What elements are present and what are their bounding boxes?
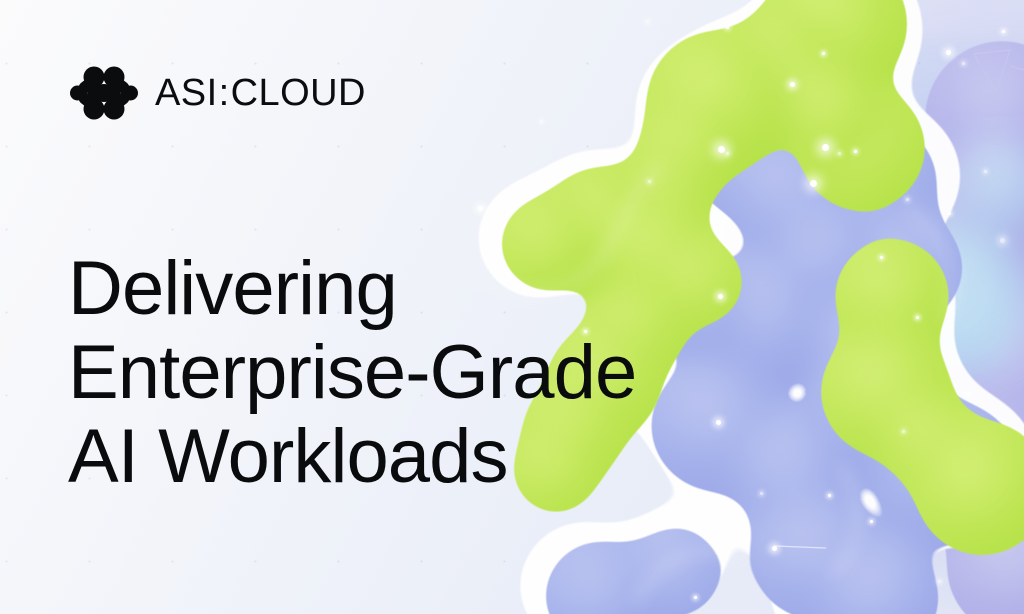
hero-banner: ASI:CLOUD Delivering Enterprise-Grade AI… [0, 0, 1024, 614]
brand-name-primary: ASI [155, 72, 218, 114]
brand-wordmark: ASI:CLOUD [155, 74, 366, 112]
headline-line-1: Delivering [68, 247, 636, 331]
headline-line-3: AI Workloads [68, 415, 636, 499]
page-title: Delivering Enterprise-Grade AI Workloads [68, 247, 636, 499]
brand-name-secondary: CLOUD [231, 72, 366, 114]
asi-molecule-mark-icon [70, 62, 138, 124]
brand-logo[interactable]: ASI:CLOUD [70, 62, 366, 124]
brand-separator: : [219, 72, 230, 114]
headline-line-2: Enterprise-Grade [68, 331, 636, 415]
